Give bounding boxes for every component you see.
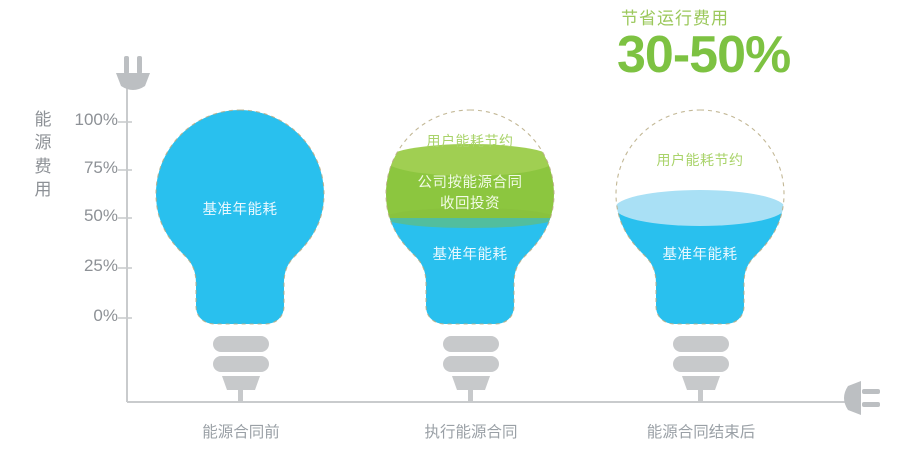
plug-icon-y-axis [116, 56, 150, 90]
x-category-2: 执行能源合同 [371, 420, 571, 442]
headline-block: 节省运行费用 30-50% [617, 4, 790, 81]
y-tick-marks [118, 122, 132, 318]
bulb-2 [380, 110, 560, 402]
y-tick-0: 0% [93, 306, 118, 326]
y-tick-100: 100% [75, 110, 118, 130]
bulb-1-base [213, 336, 269, 402]
headline-value: 30-50% [617, 31, 790, 81]
plug-icon-x-axis [844, 381, 880, 415]
y-tick-75: 75% [84, 158, 118, 178]
bulb-2-base [443, 336, 499, 402]
bulb-3 [610, 110, 790, 402]
x-category-1: 能源合同前 [141, 420, 341, 442]
bulb-3-base [673, 336, 729, 402]
y-axis-title: 能源费用 [30, 108, 56, 202]
y-tick-25: 25% [84, 256, 118, 276]
bulb-1 [150, 104, 330, 402]
y-tick-50: 50% [84, 206, 118, 226]
infographic-canvas: 节省运行费用 30-50% 能源费用 100% 75% 50% 25% 0% 基… [0, 0, 900, 473]
y-tick-labels: 100% 75% 50% 25% 0% [56, 0, 118, 473]
x-category-3: 能源合同结束后 [601, 420, 801, 442]
